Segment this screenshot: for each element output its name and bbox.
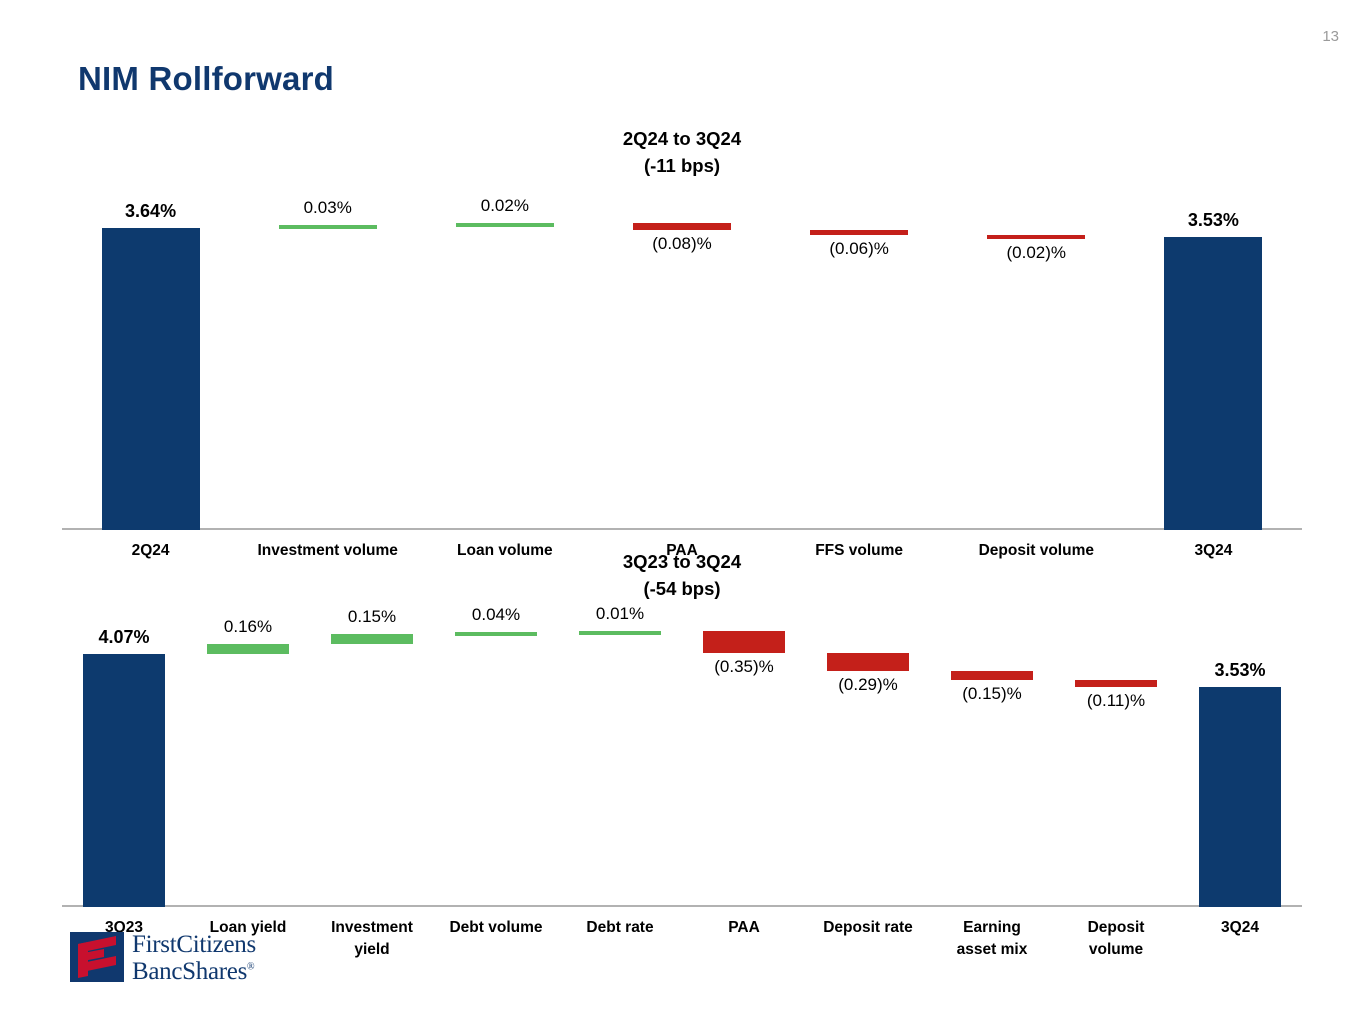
waterfall-column: 0.01% [558, 621, 682, 907]
waterfall-bar-up [579, 631, 661, 635]
bar-value-label: (0.06)% [829, 239, 889, 259]
waterfall-bar-down [987, 235, 1085, 239]
logo-line-2-text: BancShares [132, 958, 247, 985]
waterfall-bar-up [207, 644, 289, 654]
registered-mark: ® [247, 962, 254, 973]
chart-1-title: 2Q24 to 3Q24 [623, 128, 741, 149]
waterfall-column: (0.08)% [593, 198, 770, 530]
waterfall-column: (0.02)% [948, 198, 1125, 530]
waterfall-column: 0.04% [434, 621, 558, 907]
page-title: NIM Rollforward [78, 60, 334, 98]
waterfall-column: 4.07% [62, 621, 186, 907]
waterfall-column: (0.15)% [930, 621, 1054, 907]
waterfall-column: 0.15% [310, 621, 434, 907]
chart-2-subtitle: (-54 bps) [62, 575, 1302, 602]
bar-value-label: (0.35)% [714, 657, 774, 677]
bar-value-label: (0.29)% [838, 675, 898, 695]
logo-wordmark: FirstCitizens BancShares® [132, 932, 256, 984]
waterfall-bar-up [279, 225, 377, 229]
waterfall-column: (0.35)% [682, 621, 806, 907]
waterfall-column: (0.06)% [771, 198, 948, 530]
first-citizens-bancshares-logo: FirstCitizens BancShares® [70, 930, 270, 990]
waterfall-bar-down [1075, 680, 1157, 687]
waterfall-column: 0.03% [239, 198, 416, 530]
chart-1-subtitle: (-11 bps) [62, 152, 1302, 179]
waterfall-bar-total [1164, 237, 1262, 530]
bar-value-label: 0.15% [348, 607, 396, 627]
bar-value-label: (0.15)% [962, 684, 1022, 704]
chart-1-heading: 2Q24 to 3Q24 (-11 bps) [62, 125, 1302, 180]
waterfall-bar-total [83, 654, 165, 907]
waterfall-column: 3.64% [62, 198, 239, 530]
axis-label: 3Q24 [1166, 917, 1314, 939]
bar-value-label: 3.53% [1188, 210, 1239, 231]
waterfall-bar-up [455, 632, 537, 636]
bar-value-label: 0.04% [472, 605, 520, 625]
waterfall-column: 0.16% [186, 621, 310, 907]
waterfall-column: (0.29)% [806, 621, 930, 907]
waterfall-column: 3.53% [1125, 198, 1302, 530]
bar-value-label: (0.08)% [652, 234, 712, 254]
page-number: 13 [1322, 28, 1339, 45]
waterfall-column: (0.11)% [1054, 621, 1178, 907]
waterfall-column: 3.53% [1178, 621, 1302, 907]
waterfall-bar-total [1199, 687, 1281, 906]
waterfall-bar-down [810, 230, 908, 235]
chart-2-heading: 3Q23 to 3Q24 (-54 bps) [62, 548, 1302, 603]
bar-value-label: 3.64% [125, 201, 176, 222]
bar-value-label: 0.02% [481, 196, 529, 216]
waterfall-bar-total [102, 228, 200, 530]
waterfall-chart-2q24-to-3q24: 2Q24 to 3Q24 (-11 bps) 3.64%0.03%0.02%(0… [62, 125, 1302, 590]
first-citizens-logo-mark-icon [70, 932, 124, 982]
bar-value-label: (0.11)% [1087, 691, 1145, 711]
waterfall-bar-up [331, 634, 413, 643]
waterfall-bar-down [633, 223, 731, 230]
logo-line-1: FirstCitizens [132, 932, 256, 957]
chart-1-plot: 3.64%0.03%0.02%(0.08)%(0.06)%(0.02)%3.53… [62, 198, 1302, 530]
logo-line-2: BancShares® [132, 959, 256, 984]
waterfall-chart-3q23-to-3q24: 3Q23 to 3Q24 (-54 bps) 4.07%0.16%0.15%0.… [62, 548, 1302, 967]
chart-2-plot: 4.07%0.16%0.15%0.04%0.01%(0.35)%(0.29)%(… [62, 621, 1302, 907]
chart-2-title: 3Q23 to 3Q24 [623, 551, 741, 572]
waterfall-bar-down [703, 631, 785, 653]
bar-value-label: 4.07% [98, 627, 149, 648]
bar-value-label: 0.01% [596, 604, 644, 624]
waterfall-column: 0.02% [416, 198, 593, 530]
waterfall-bar-up [456, 223, 554, 227]
waterfall-bar-down [951, 671, 1033, 680]
bar-value-label: 0.03% [304, 198, 352, 218]
bar-value-label: 0.16% [224, 617, 272, 637]
bar-value-label: 3.53% [1214, 660, 1265, 681]
bar-value-label: (0.02)% [1007, 243, 1067, 263]
waterfall-bar-down [827, 653, 909, 671]
